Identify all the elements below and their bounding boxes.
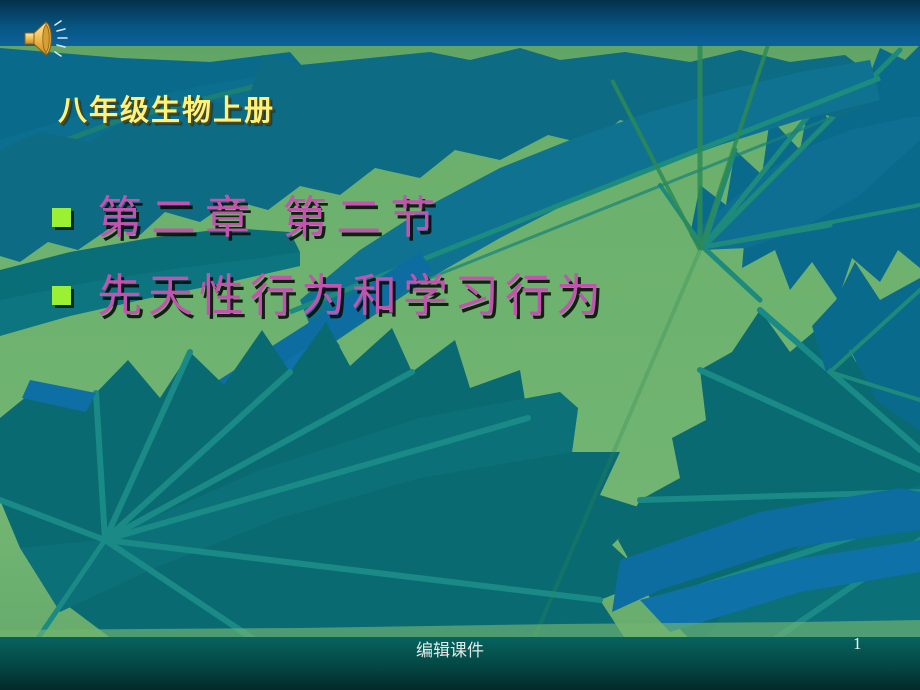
title-bullet-row-1: 第二章 第二节 — [52, 178, 872, 256]
bullet-square-icon — [52, 286, 71, 305]
top-band — [0, 0, 920, 46]
bullet-square-icon — [52, 208, 71, 227]
title-line-1: 第二章 第二节 — [97, 195, 444, 240]
speaker-icon[interactable] — [22, 16, 80, 64]
slide-subtitle: 八年级生物上册 — [58, 87, 275, 129]
presentation-slide: 八年级生物上册 第二章 第二节 先天性行为和学习行为 编辑课件 1 — [0, 0, 920, 690]
title-bullet-row-2: 先天性行为和学习行为 — [52, 256, 872, 334]
footer-text: 编辑课件 — [416, 636, 484, 661]
page-number: 1 — [853, 634, 862, 654]
title-line-2: 先天性行为和学习行为 — [97, 273, 607, 318]
title-block: 第二章 第二节 先天性行为和学习行为 — [52, 178, 872, 334]
